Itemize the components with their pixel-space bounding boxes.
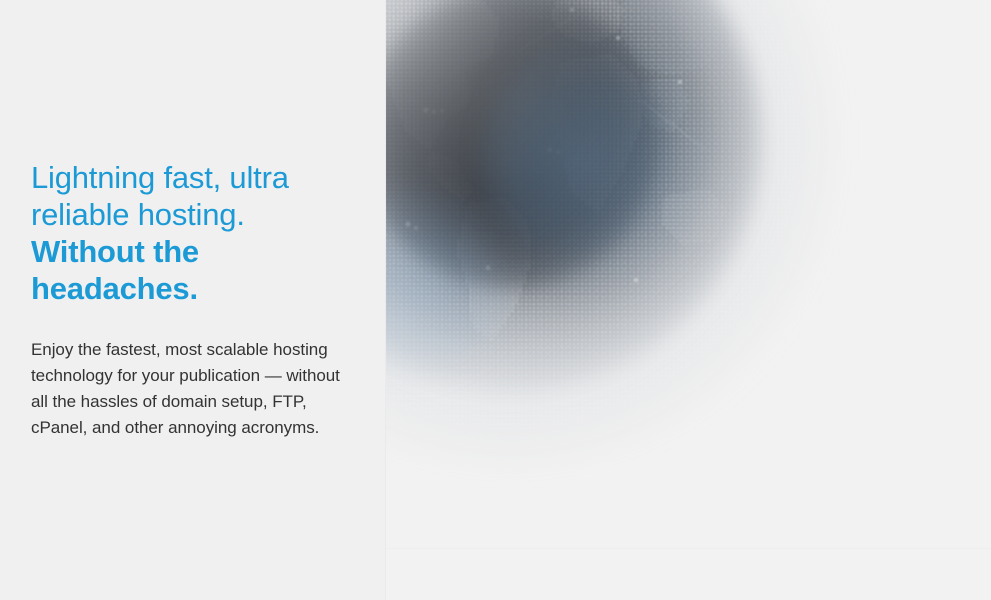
subcopy-paragraph: Enjoy the fastest, most scalable hosting… [31, 337, 360, 441]
headline-line-2: reliable hosting. [31, 196, 360, 233]
globe-continents-icon [386, 0, 800, 430]
headline-line-4: headaches. [31, 270, 360, 307]
text-panel: Lightning fast, ultra reliable hosting. … [0, 0, 386, 600]
headline-line-1: Lightning fast, ultra [31, 159, 360, 196]
globe-blue-glow-left [386, 190, 506, 380]
panel-seam [386, 548, 991, 549]
headline-line-3: Without the [31, 233, 360, 270]
globe-haze-layer [386, 0, 830, 460]
visual-panel [386, 0, 991, 600]
globe-dot-matrix [386, 0, 800, 430]
globe-body-layer [386, 0, 760, 390]
globe-graphic [386, 0, 991, 600]
globe-blue-glow-right [486, 30, 716, 290]
globe-sheen-layer [386, 0, 666, 280]
hero-section: Lightning fast, ultra reliable hosting. … [0, 0, 991, 600]
headline: Lightning fast, ultra reliable hosting. … [31, 159, 360, 307]
globe-core-layer [386, 0, 660, 288]
panel-divider [385, 0, 386, 600]
